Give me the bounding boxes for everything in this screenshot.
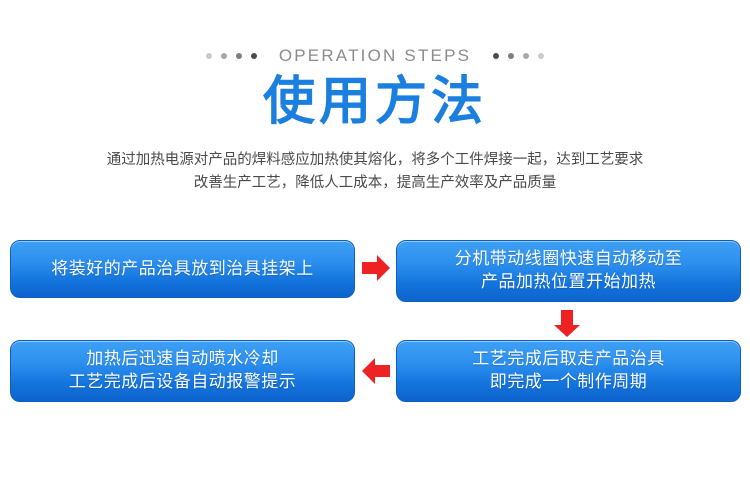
flow-step-2-line-2: 产品加热位置开始加热 — [455, 271, 683, 294]
page-subtitle: 通过加热电源对产品的焊料感应加热使其熔化，将多个工件焊接一起，达到工艺要求 改善… — [0, 149, 750, 194]
subtitle-line-1: 通过加热电源对产品的焊料感应加热使其熔化，将多个工件焊接一起，达到工艺要求 — [0, 149, 750, 171]
dot-group-left — [206, 53, 257, 59]
page-title: 使用方法 — [0, 73, 750, 131]
flow-step-3-text: 工艺完成后取走产品治具 即完成一个制作周期 — [472, 348, 665, 394]
eyebrow-label: OPERATION STEPS — [279, 46, 471, 66]
flow-step-4: 加热后迅速自动喷水冷却 工艺完成后设备自动报警提示 — [10, 340, 355, 402]
eyebrow-row: OPERATION STEPS — [0, 45, 750, 67]
dot-group-right — [493, 53, 544, 59]
flow-step-4-text: 加热后迅速自动喷水冷却 工艺完成后设备自动报警提示 — [69, 348, 297, 394]
arrow-left-icon — [360, 356, 392, 386]
flow-step-3-line-1: 工艺完成后取走产品治具 — [472, 348, 665, 371]
flow-step-4-line-2: 工艺完成后设备自动报警提示 — [69, 371, 297, 394]
flow-step-4-line-1: 加热后迅速自动喷水冷却 — [69, 348, 297, 371]
page-header: OPERATION STEPS 使用方法 通过加热电源对产品的焊料感应加热使其熔… — [0, 0, 750, 194]
decorative-dot-icon — [251, 53, 257, 59]
decorative-dot-icon — [221, 53, 227, 59]
flow-step-3: 工艺完成后取走产品治具 即完成一个制作周期 — [396, 340, 741, 402]
flow-step-1-line-1: 将装好的产品治具放到治具挂架上 — [51, 258, 314, 281]
subtitle-line-2: 改善生产工艺，降低人工成本，提高生产效率及产品质量 — [0, 172, 750, 194]
decorative-dot-icon — [236, 53, 242, 59]
flow-step-1: 将装好的产品治具放到治具挂架上 — [10, 240, 355, 298]
decorative-dot-icon — [523, 53, 529, 59]
decorative-dot-icon — [493, 53, 499, 59]
flow-step-2-line-1: 分机带动线圈快速自动移动至 — [455, 248, 683, 271]
decorative-dot-icon — [508, 53, 514, 59]
flow-step-1-text: 将装好的产品治具放到治具挂架上 — [51, 258, 314, 281]
flow-diagram: 将装好的产品治具放到治具挂架上 分机带动线圈快速自动移动至 产品加热位置开始加热… — [0, 236, 750, 406]
arrow-down-icon — [552, 308, 582, 338]
decorative-dot-icon — [206, 53, 212, 59]
decorative-dot-icon — [538, 53, 544, 59]
flow-step-2: 分机带动线圈快速自动移动至 产品加热位置开始加热 — [396, 240, 741, 302]
operation-steps-page: OPERATION STEPS 使用方法 通过加热电源对产品的焊料感应加热使其熔… — [0, 0, 750, 480]
flow-step-2-text: 分机带动线圈快速自动移动至 产品加热位置开始加热 — [455, 248, 683, 294]
flow-step-3-line-2: 即完成一个制作周期 — [472, 371, 665, 394]
arrow-right-icon — [360, 253, 392, 283]
